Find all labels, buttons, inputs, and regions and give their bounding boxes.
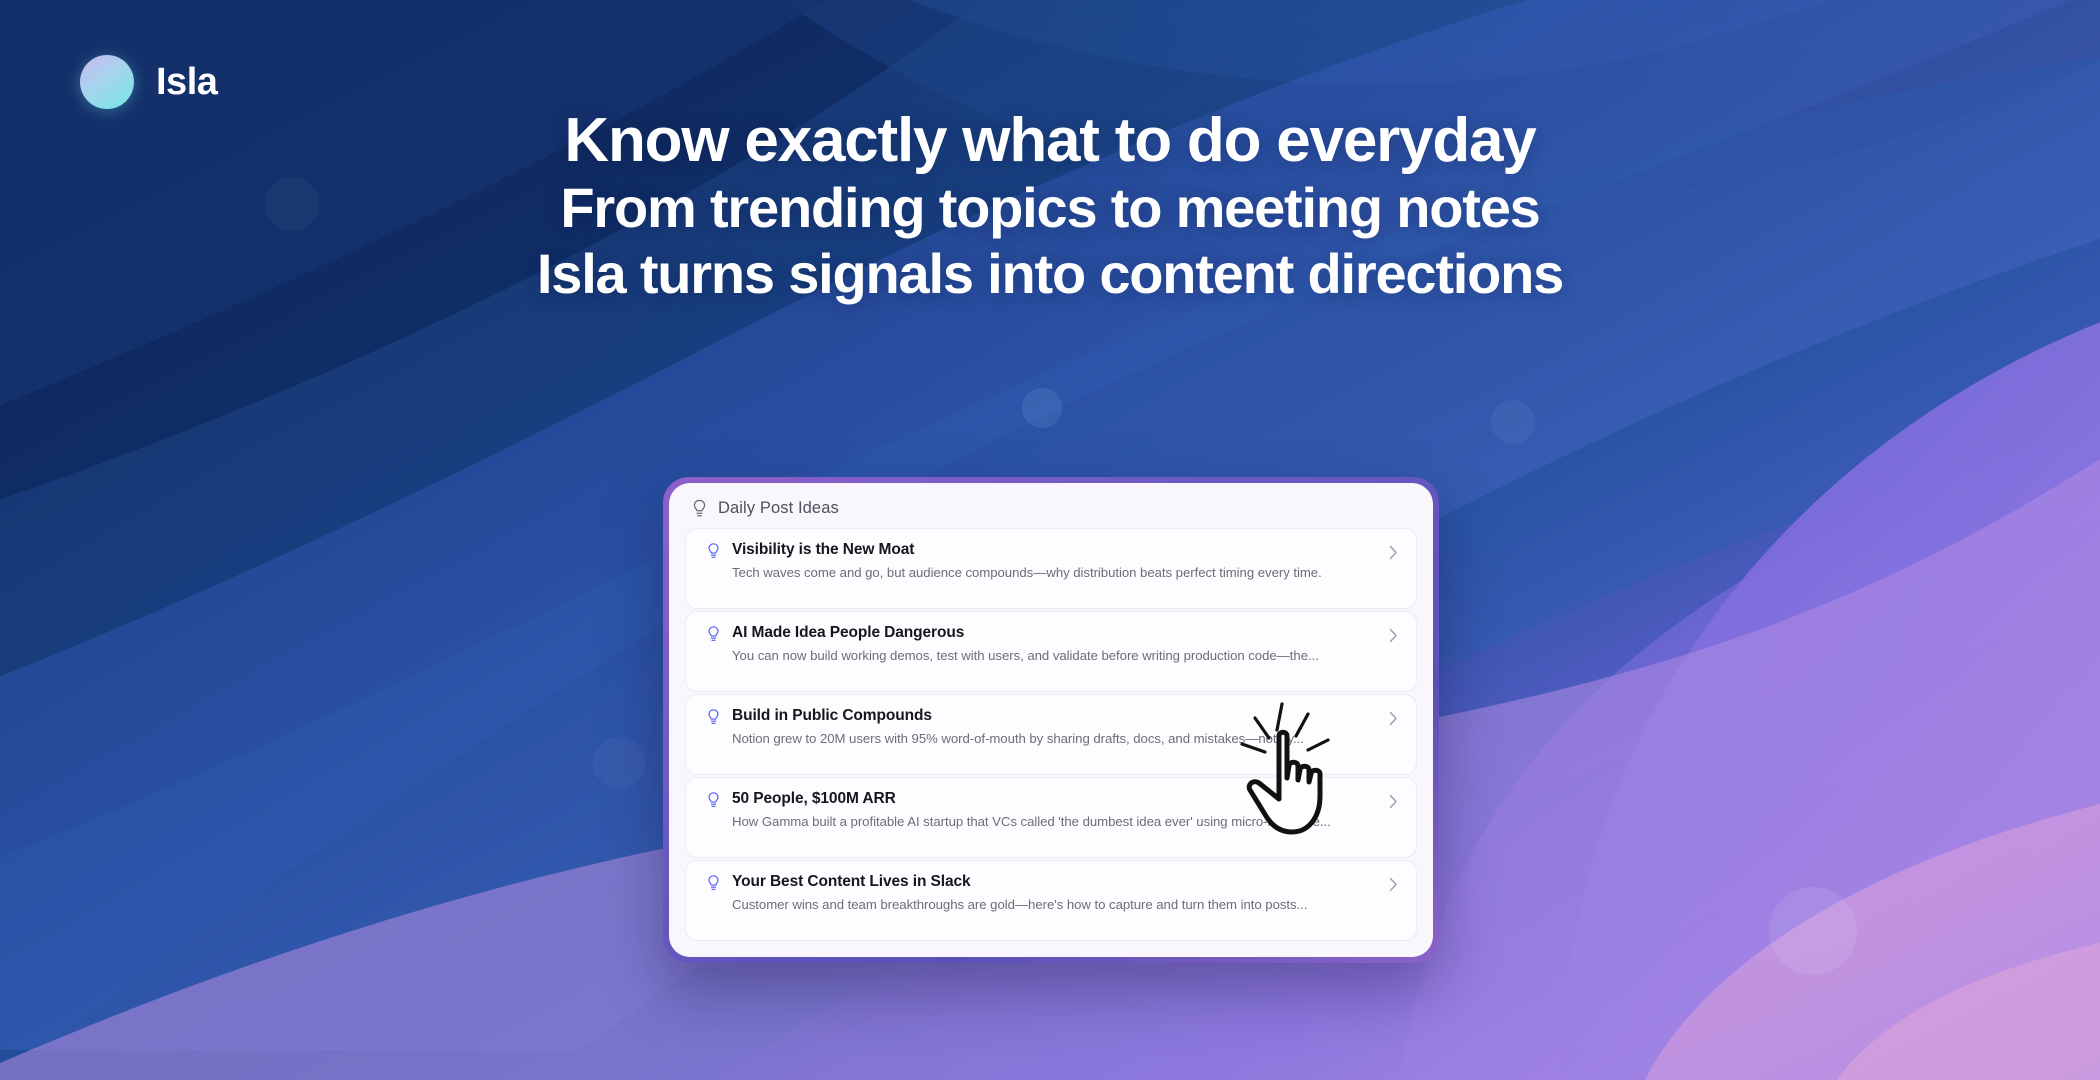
daily-post-ideas-card: Daily Post Ideas Visibility is the New M… (663, 477, 1439, 963)
lightbulb-icon (706, 872, 721, 892)
idea-description: Notion grew to 20M users with 95% word-o… (732, 730, 1304, 747)
row-body: Your Best Content Lives in Slack Custome… (732, 872, 1307, 913)
idea-list: Visibility is the New Moat Tech waves co… (669, 528, 1433, 957)
row-body: Build in Public Compounds Notion grew to… (732, 706, 1304, 747)
brand-logo[interactable]: Isla (80, 55, 217, 109)
headline-line-2: From trending topics to meeting notes (0, 175, 2100, 241)
list-item[interactable]: Build in Public Compounds Notion grew to… (685, 694, 1417, 775)
idea-description: Customer wins and team breakthroughs are… (732, 896, 1307, 913)
idea-title: 50 People, $100M ARR (732, 790, 1331, 808)
isla-gradient-circle-icon (80, 55, 134, 109)
hero-banner: Isla Know exactly what to do everyday Fr… (0, 0, 2100, 1080)
row-body: AI Made Idea People Dangerous You can no… (732, 623, 1319, 664)
list-item[interactable]: Your Best Content Lives in Slack Custome… (685, 860, 1417, 941)
chevron-right-icon[interactable] (1389, 628, 1398, 643)
idea-title: Visibility is the New Moat (732, 541, 1322, 559)
idea-title: AI Made Idea People Dangerous (732, 624, 1319, 642)
chevron-right-icon[interactable] (1389, 711, 1398, 726)
row-body: 50 People, $100M ARR How Gamma built a p… (732, 789, 1331, 830)
lightbulb-icon (706, 540, 721, 560)
headline-block: Know exactly what to do everyday From tr… (0, 108, 2100, 307)
lightbulb-icon (691, 499, 708, 518)
row-body: Visibility is the New Moat Tech waves co… (732, 540, 1322, 581)
list-item[interactable]: Visibility is the New Moat Tech waves co… (685, 528, 1417, 609)
card-header: Daily Post Ideas (669, 483, 1433, 528)
card-inner: Daily Post Ideas Visibility is the New M… (669, 483, 1433, 957)
lightbulb-icon (706, 706, 721, 726)
list-item[interactable]: 50 People, $100M ARR How Gamma built a p… (685, 777, 1417, 858)
chevron-right-icon[interactable] (1389, 794, 1398, 809)
lightbulb-icon (706, 789, 721, 809)
chevron-right-icon[interactable] (1389, 545, 1398, 560)
headline-line-1: Know exactly what to do everyday (0, 108, 2100, 175)
idea-description: Tech waves come and go, but audience com… (732, 564, 1322, 581)
chevron-right-icon[interactable] (1389, 877, 1398, 892)
idea-description: How Gamma built a profitable AI startup … (732, 813, 1331, 830)
headline-line-3: Isla turns signals into content directio… (0, 241, 2100, 307)
brand-name: Isla (156, 63, 217, 101)
idea-title: Build in Public Compounds (732, 707, 1304, 725)
card-header-label: Daily Post Ideas (718, 499, 839, 518)
idea-title: Your Best Content Lives in Slack (732, 873, 1307, 891)
lightbulb-icon (706, 623, 721, 643)
idea-description: You can now build working demos, test wi… (732, 647, 1319, 664)
list-item[interactable]: AI Made Idea People Dangerous You can no… (685, 611, 1417, 692)
